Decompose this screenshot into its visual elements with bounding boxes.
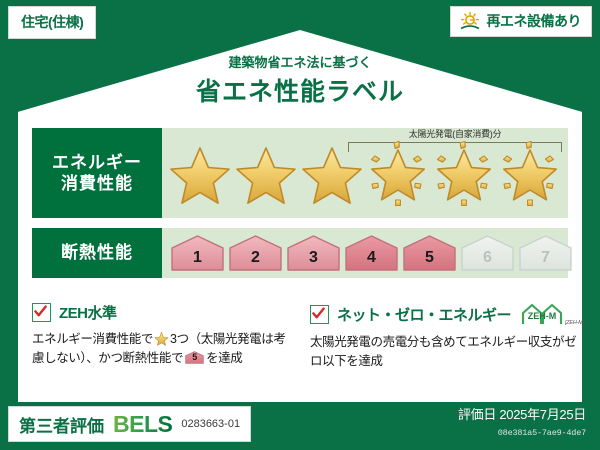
insulation-badge: 3 <box>286 234 341 272</box>
zeh-m-logo-caption: [ZEH-M] <box>565 320 584 326</box>
label-subtitle: 建築物省エネ法に基づく <box>0 52 600 71</box>
evaluation-date: 評価日 2025年7月25日 <box>458 404 586 423</box>
energy-performance-row: エネルギー 消費性能 太陽光発電(自家消費)分 <box>32 128 568 218</box>
energy-performance-label: 住宅(住棟) 再エネ設備あり 建築物省エネ法に基づく 省エネ性能ラベル エネルギ… <box>0 0 600 450</box>
insulation-badge-label: 7 <box>518 249 573 267</box>
criteria-zeh-text-3: を達成 <box>206 351 242 365</box>
criteria-zeh: ZEH水準 エネルギー消費性能で3つ（太陽光発電は考慮しない）、かつ断熱性能で5… <box>32 302 292 369</box>
insulation-performance-row: 断熱性能 1 2 3 <box>32 228 568 278</box>
insulation-badge-label: 3 <box>286 249 341 267</box>
star-solar <box>432 140 496 206</box>
star-rating <box>168 140 562 206</box>
document-hash: 08e381a5-7ae9-4de7 <box>498 428 586 438</box>
insulation-badge-label: 5 <box>402 249 457 267</box>
renewable-badge-label: 再エネ設備あり <box>487 11 582 31</box>
criteria-net-zero-energy: ネット・ゼロ・エネルギー ZEH-M [ZEH-M] 太陽光発電の売電分も含めて… <box>310 302 580 372</box>
insulation-badge-inactive: 7 <box>518 234 573 272</box>
label-title: 省エネ性能ラベル <box>0 72 600 108</box>
energy-row-label: エネルギー 消費性能 <box>32 128 162 218</box>
star-plain <box>234 140 298 206</box>
criteria-zeh-title: ZEH水準 <box>59 302 117 323</box>
star-plain <box>168 140 232 206</box>
bels-certification-block: 第三者評価 BELS 0283663-01 <box>8 406 251 442</box>
criteria-zeh-text-1: エネルギー消費性能で <box>32 332 153 346</box>
insulation-badge-inactive: 6 <box>460 234 515 272</box>
insulation-row-label: 断熱性能 <box>32 228 162 278</box>
bels-logo-text: BELS <box>113 411 172 438</box>
svg-text:ZEH-M: ZEH-M <box>528 311 557 321</box>
energy-row-body: 太陽光発電(自家消費)分 <box>162 128 568 218</box>
checkbox-checked-icon <box>32 303 51 322</box>
criteria-zeh-header: ZEH水準 <box>32 302 292 323</box>
criteria-nze-header: ネット・ゼロ・エネルギー ZEH-M [ZEH-M] <box>310 302 580 326</box>
insulation-row-body: 1 2 3 4 5 <box>162 228 568 278</box>
insulation-grade-scale: 1 2 3 4 5 <box>170 234 573 272</box>
checkbox-checked-icon <box>310 305 329 324</box>
insulation-badge-label: 1 <box>170 249 225 267</box>
energy-row-label-line1: エネルギー <box>52 152 142 173</box>
insulation-badge-label: 2 <box>228 249 283 267</box>
insulation-badge-label: 4 <box>344 249 399 267</box>
insulation-badge: 1 <box>170 234 225 272</box>
energy-row-label-line2: 消費性能 <box>52 173 142 194</box>
sun-solar-icon <box>459 11 481 31</box>
bels-jp-label: 第三者評価 <box>19 412 104 437</box>
star-plain <box>300 140 364 206</box>
building-type-tag: 住宅(住棟) <box>8 6 96 39</box>
inline-insulation-badge-label: 5 <box>185 351 204 365</box>
bels-certificate-number: 0283663-01 <box>181 418 240 430</box>
criteria-zeh-body: エネルギー消費性能で3つ（太陽光発電は考慮しない）、かつ断熱性能で5を達成 <box>32 330 292 369</box>
renewable-equipment-badge: 再エネ設備あり <box>450 6 593 37</box>
zeh-m-logo-icon: ZEH-M [ZEH-M] <box>520 302 566 326</box>
inline-star-icon <box>154 331 169 346</box>
insulation-badge: 5 <box>402 234 457 272</box>
insulation-badge-label: 6 <box>460 249 515 267</box>
criteria-nze-body: 太陽光発電の売電分も含めてエネルギー収支がゼロ以下を達成 <box>310 333 580 372</box>
star-solar <box>366 140 430 206</box>
insulation-badge: 2 <box>228 234 283 272</box>
solar-bracket-label: 太陽光発電(自家消費)分 <box>342 127 568 140</box>
criteria-nze-title: ネット・ゼロ・エネルギー <box>337 304 511 325</box>
insulation-badge: 4 <box>344 234 399 272</box>
inline-insulation-badge-icon: 5 <box>185 350 204 365</box>
star-solar <box>498 140 562 206</box>
